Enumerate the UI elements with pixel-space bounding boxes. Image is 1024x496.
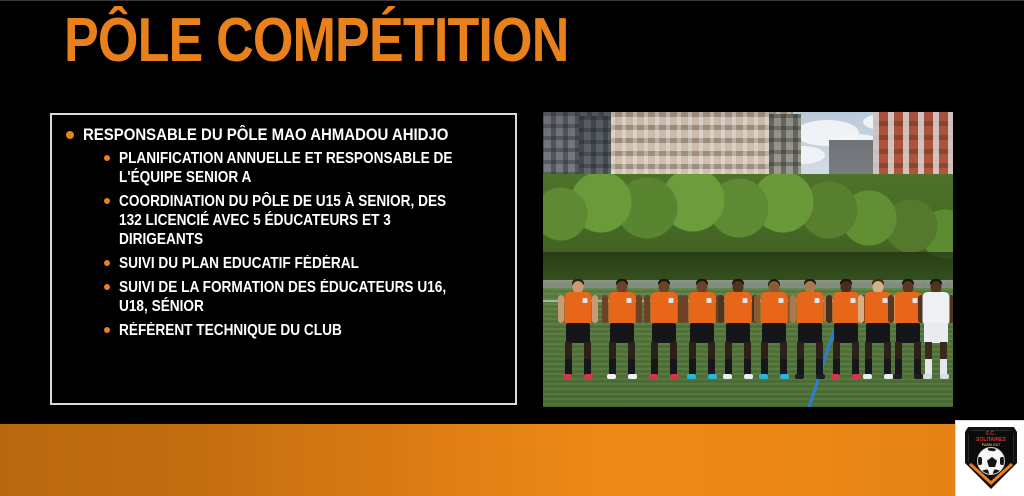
bullet-dot-icon (104, 327, 110, 333)
content-text-box: RESPONSABLE DU PÔLE MAO AHMADOU AHIDJO P… (50, 113, 517, 405)
photo-player (561, 281, 595, 381)
bullet-dot-icon (104, 155, 110, 161)
photo-player (685, 281, 719, 381)
bullet-item: COORDINATION DU PÔLE DE U15 À SENIOR, DE… (104, 192, 505, 249)
bullet-text: SUIVI DE LA FORMATION DES ÉDUCATEURS U16… (119, 278, 459, 316)
photo-player (793, 281, 827, 381)
footer-band (0, 424, 1024, 496)
bullet-item: SUIVI DU PLAN EDUCATIF FÉDÉRAL (104, 254, 505, 273)
photo-player (605, 281, 639, 381)
bullet-text: PLANIFICATION ANNUELLE ET RESPONSABLE DE… (119, 149, 459, 187)
photo-player (757, 281, 791, 381)
bullet-text: RESPONSABLE DU PÔLE MAO AHMADOU AHIDJO (83, 124, 454, 145)
slide-canvas: PÔLE COMPÉTITION RESPONSABLE DU PÔLE MAO… (0, 0, 1024, 496)
bullet-text: COORDINATION DU PÔLE DE U15 À SENIOR, DE… (119, 192, 459, 249)
crest-text-line3: PARIS EST (965, 443, 1017, 447)
bullet-dot-icon (66, 131, 74, 139)
bullet-item: SUIVI DE LA FORMATION DES ÉDUCATEURS U16… (104, 278, 505, 316)
bullet-item: PLANIFICATION ANNUELLE ET RESPONSABLE DE… (104, 149, 505, 187)
top-hairline (0, 0, 1024, 1)
bullet-dot-icon (104, 198, 110, 204)
bullet-item: RÉFÈRENT TECHNIQUE DU CLUB (104, 321, 505, 340)
bullet-dot-icon (104, 284, 110, 290)
photo-goalkeeper (921, 281, 951, 381)
photo-player (721, 281, 755, 381)
bullet-text: RÉFÈRENT TECHNIQUE DU CLUB (119, 321, 459, 340)
soccer-ball-icon (977, 447, 1005, 475)
club-crest-icon: F.C. SOLITAIRES PARIS EST (965, 427, 1017, 489)
bullet-item: RESPONSABLE DU PÔLE MAO AHMADOU AHIDJO (66, 124, 505, 145)
bullet-dot-icon (104, 260, 110, 266)
club-logo: F.C. SOLITAIRES PARIS EST (955, 420, 1024, 496)
photo-player (647, 281, 681, 381)
team-photo (543, 112, 953, 407)
bullet-text: SUIVI DU PLAN EDUCATIF FÉDÉRAL (119, 254, 459, 273)
page-title: PÔLE COMPÉTITION (64, 8, 568, 74)
